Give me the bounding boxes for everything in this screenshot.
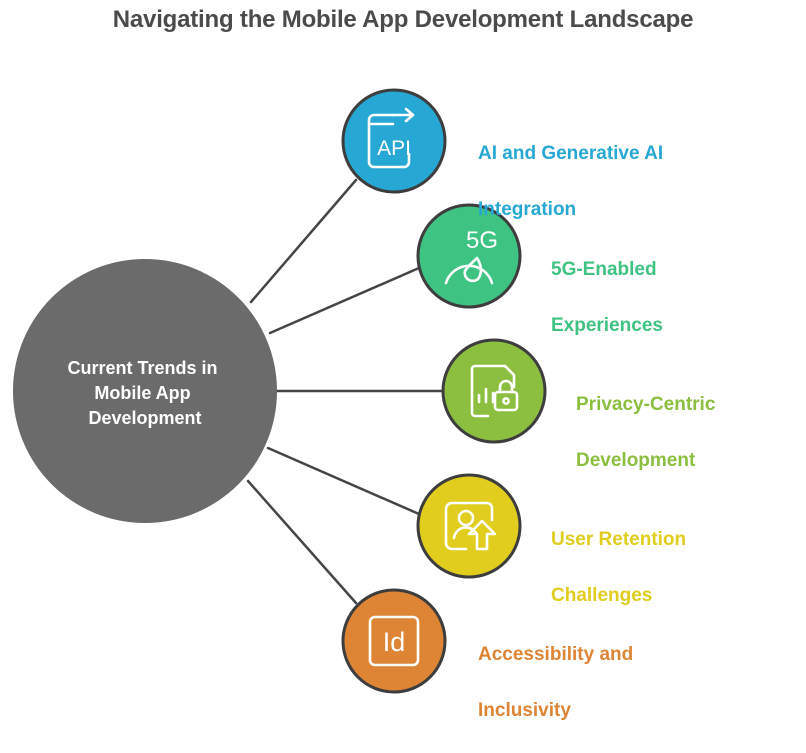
node-label-ai-line-1: AI and Generative AI <box>478 140 778 168</box>
hub-node[interactable]: Current Trends in Mobile App Development <box>13 259 277 523</box>
hub-label-line-2: Mobile App <box>94 383 190 403</box>
node-label-accessibility-line-1: Accessibility and <box>478 641 778 669</box>
node-label-privacy-line-1: Privacy-Centric <box>576 391 806 419</box>
connector-line-retention <box>268 448 419 514</box>
node-label-retention-line-2: Challenges <box>551 582 806 610</box>
connector-line-accessibility <box>248 481 356 603</box>
id-icon-text: Id <box>383 627 406 657</box>
node-label-privacy: Privacy-Centric Development <box>576 363 806 503</box>
hub-label-line-1: Current Trends in <box>67 358 217 378</box>
infographic-root: Navigating the Mobile App Development La… <box>0 0 806 700</box>
node-label-5g-line-2: Experiences <box>551 312 806 340</box>
node-label-retention-line-1: User Retention <box>551 526 806 554</box>
hub-label-line-3: Development <box>88 408 201 428</box>
connector-lines <box>248 180 443 603</box>
node-label-5g-line-1: 5G-Enabled <box>551 256 806 284</box>
node-ai-generative-ai[interactable]: API <box>343 90 445 192</box>
node-user-retention[interactable] <box>418 475 520 577</box>
connector-line-5g <box>270 268 419 333</box>
api-icon-text: API <box>377 137 411 160</box>
node-accessibility[interactable]: Id <box>343 590 445 692</box>
connector-line-ai <box>251 180 356 302</box>
node-label-accessibility: Accessibility and Inclusivity <box>478 613 778 753</box>
node-label-5g: 5G-Enabled Experiences <box>551 228 806 368</box>
node-privacy-centric[interactable] <box>443 340 545 442</box>
node-circle-privacy <box>443 340 545 442</box>
node-label-accessibility-line-2: Inclusivity <box>478 697 778 725</box>
node-label-ai-line-2: Integration <box>478 196 778 224</box>
node-label-privacy-line-2: Development <box>576 447 806 475</box>
node-circle-retention <box>418 475 520 577</box>
